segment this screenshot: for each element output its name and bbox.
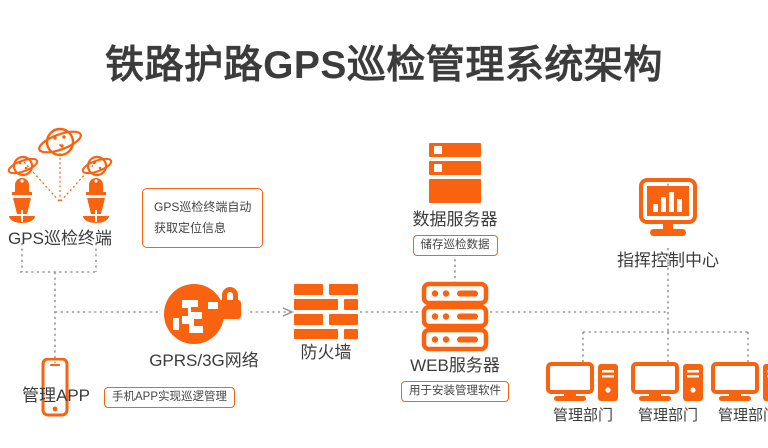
- satellite-officers-icon: [0, 118, 120, 226]
- page-title: 铁路护路GPS巡检管理系统架构: [0, 34, 768, 90]
- desktop-computer-icon: [631, 362, 705, 404]
- database-server-icon: [415, 141, 495, 207]
- node-department-3[interactable]: 管理部门: [708, 362, 768, 425]
- node-network[interactable]: GPRS/3G网络: [158, 278, 250, 371]
- callout-line-2: 获取定位信息: [154, 218, 251, 239]
- globe-lock-icon: [158, 278, 250, 348]
- node-label-department-1: 管理部门: [553, 408, 613, 425]
- arrow-head-firewall: [283, 308, 292, 316]
- node-firewall[interactable]: 防火墙: [292, 282, 360, 363]
- node-data-server[interactable]: 数据服务器 储存巡检数据: [415, 141, 495, 256]
- node-department-2[interactable]: 管理部门: [628, 362, 708, 425]
- node-gps-terminal[interactable]: GPS巡检终端: [0, 118, 120, 249]
- badge-management-app: 手机APP实现巡逻管理: [104, 387, 235, 408]
- node-label-command-center: 指挥控制中心: [617, 252, 719, 271]
- node-label-data-server: 数据服务器: [413, 211, 498, 230]
- node-label-department-3: 管理部门: [718, 408, 768, 425]
- desktop-computer-icon: [711, 362, 768, 404]
- node-label-web-server: WEB服务器: [410, 357, 500, 376]
- node-command-center[interactable]: 指挥控制中心: [620, 178, 716, 271]
- monitor-chart-icon: [620, 178, 716, 248]
- desktop-computer-icon: [546, 362, 620, 404]
- callout-line-1: GPS巡检终端自动: [154, 197, 251, 218]
- node-label-management-app: 管理APP: [6, 387, 106, 406]
- node-label-firewall: 防火墙: [301, 344, 352, 363]
- badge-data-server: 储存巡检数据: [413, 235, 498, 256]
- node-web-server[interactable]: WEB服务器 用于安装管理软件: [415, 281, 495, 402]
- node-label-gps-terminal: GPS巡检终端: [8, 230, 112, 249]
- badge-web-server: 用于安装管理软件: [401, 381, 509, 402]
- node-department-1[interactable]: 管理部门: [543, 362, 623, 425]
- brick-wall-icon: [292, 282, 360, 340]
- node-label-department-2: 管理部门: [638, 408, 698, 425]
- callout-gps-positioning: GPS巡检终端自动 获取定位信息: [142, 188, 263, 248]
- node-label-network: GPRS/3G网络: [149, 352, 259, 371]
- server-rack-icon: [415, 281, 495, 353]
- diagram-canvas: 铁路护路GPS巡检管理系统架构: [0, 0, 768, 448]
